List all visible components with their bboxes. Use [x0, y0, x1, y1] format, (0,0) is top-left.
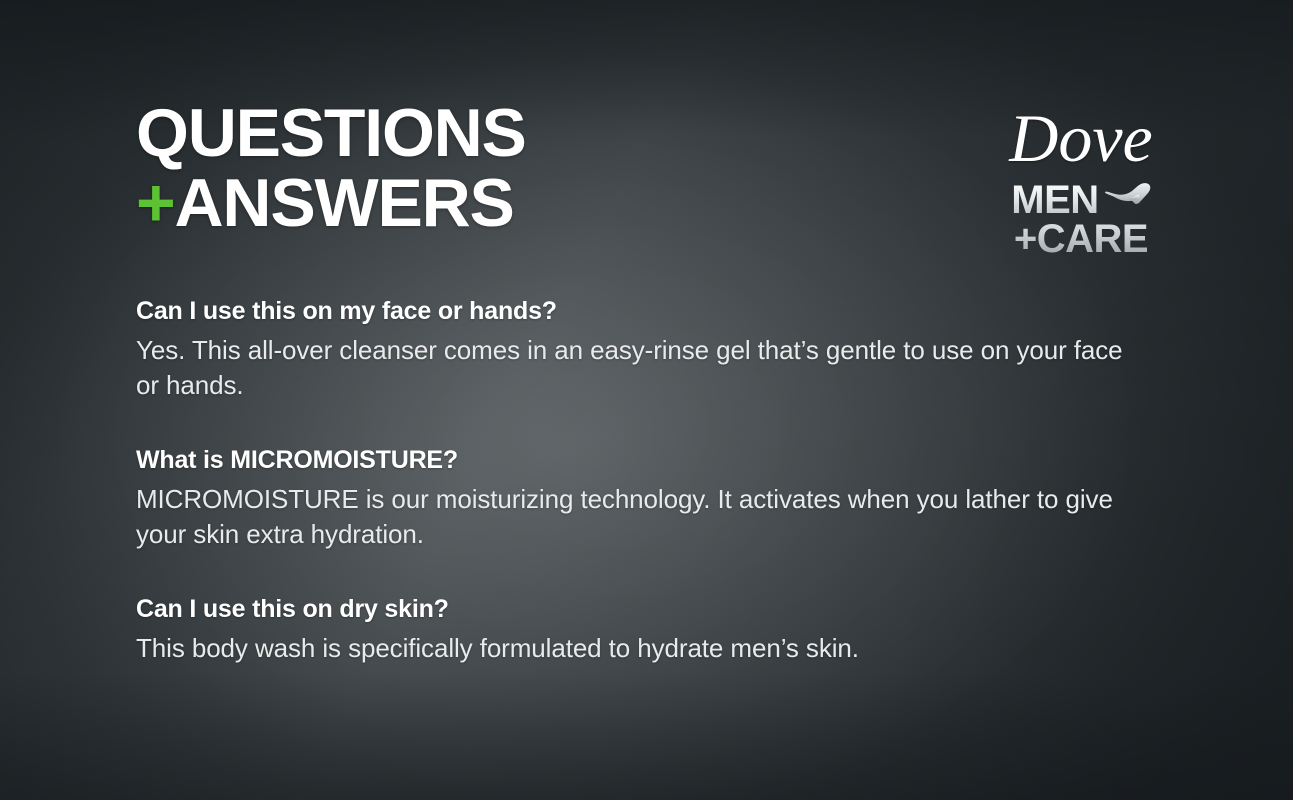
faq-item: Can I use this on dry skin? This body wa… — [136, 594, 1146, 666]
faq-answer: This body wash is specifically formulate… — [136, 631, 1146, 666]
faq-question: What is MICROMOISTURE? — [136, 445, 1146, 475]
title-answers-text: ANSWERS — [175, 165, 514, 241]
faq-item: What is MICROMOISTURE? MICROMOISTURE is … — [136, 445, 1146, 552]
faq-answer: MICROMOISTURE is our moisturizing techno… — [136, 482, 1146, 552]
logo-men-text: MEN — [1011, 180, 1098, 220]
faq-question: Can I use this on dry skin? — [136, 594, 1146, 624]
faq-slide: QUESTIONS +ANSWERS Dove MEN — [0, 0, 1293, 800]
logo-dove-wordmark: Dove — [986, 102, 1176, 174]
plus-accent-glyph: + — [136, 165, 175, 241]
title-line-answers: +ANSWERS — [136, 170, 526, 236]
faq-item: Can I use this on my face or hands? Yes.… — [136, 296, 1146, 403]
faq-question: Can I use this on my face or hands? — [136, 296, 1146, 326]
logo-care-text: +CARE — [986, 218, 1176, 260]
logo-men-row: MEN — [986, 180, 1176, 220]
slide-content: QUESTIONS +ANSWERS Dove MEN — [0, 0, 1293, 800]
brand-logo: Dove MEN — [986, 102, 1176, 260]
title-line-questions: QUESTIONS — [136, 100, 526, 166]
dove-bird-icon — [1105, 181, 1151, 214]
faq-list: Can I use this on my face or hands? Yes.… — [136, 296, 1146, 666]
page-title: QUESTIONS +ANSWERS — [136, 100, 526, 236]
faq-answer: Yes. This all-over cleanser comes in an … — [136, 333, 1146, 403]
